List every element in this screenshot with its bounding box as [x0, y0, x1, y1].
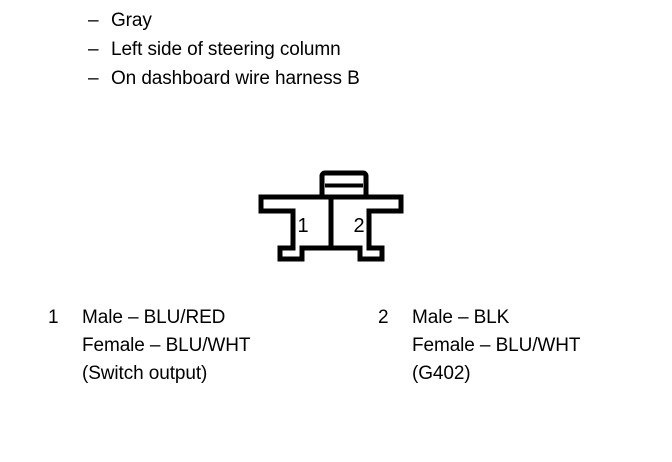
- dash-icon: –: [88, 35, 111, 64]
- terminal-male-wire: Male – BLK: [412, 304, 580, 332]
- cavity-number-1: 1: [297, 215, 308, 237]
- terminal-entry: 2 Male – BLK Female – BLU/WHT (G402): [378, 304, 580, 388]
- terminal-female-wire: Female – BLU/WHT: [412, 332, 580, 360]
- description-item-label: On dashboard wire harness B: [111, 64, 360, 93]
- cavity-number-2: 2: [353, 215, 364, 237]
- terminal-entry: 1 Male – BLU/RED Female – BLU/WHT (Switc…: [48, 304, 250, 388]
- connector-illustration: 1 2: [256, 170, 406, 264]
- description-item: – Left side of steering column: [88, 35, 608, 64]
- description-item-label: Gray: [111, 6, 152, 35]
- description-item-label: Left side of steering column: [111, 35, 341, 64]
- terminal-pin-number: 1: [48, 304, 82, 332]
- terminal-pin-number: 2: [378, 304, 412, 332]
- dash-icon: –: [88, 64, 111, 93]
- terminal-legend: 1 Male – BLU/RED Female – BLU/WHT (Switc…: [0, 304, 672, 404]
- terminal-female-wire: Female – BLU/WHT: [82, 332, 250, 360]
- terminal-details: Male – BLK Female – BLU/WHT (G402): [412, 304, 580, 388]
- description-item: – Gray: [88, 6, 608, 35]
- terminal-function-note: (Switch output): [82, 360, 250, 388]
- dash-icon: –: [88, 6, 111, 35]
- terminal-function-note: (G402): [412, 360, 580, 388]
- description-item: – On dashboard wire harness B: [88, 64, 608, 93]
- connector-description-list: – Gray – Left side of steering column – …: [88, 6, 608, 93]
- terminal-male-wire: Male – BLU/RED: [82, 304, 250, 332]
- connector-diagram: 1 2: [256, 170, 406, 264]
- terminal-details: Male – BLU/RED Female – BLU/WHT (Switch …: [82, 304, 250, 388]
